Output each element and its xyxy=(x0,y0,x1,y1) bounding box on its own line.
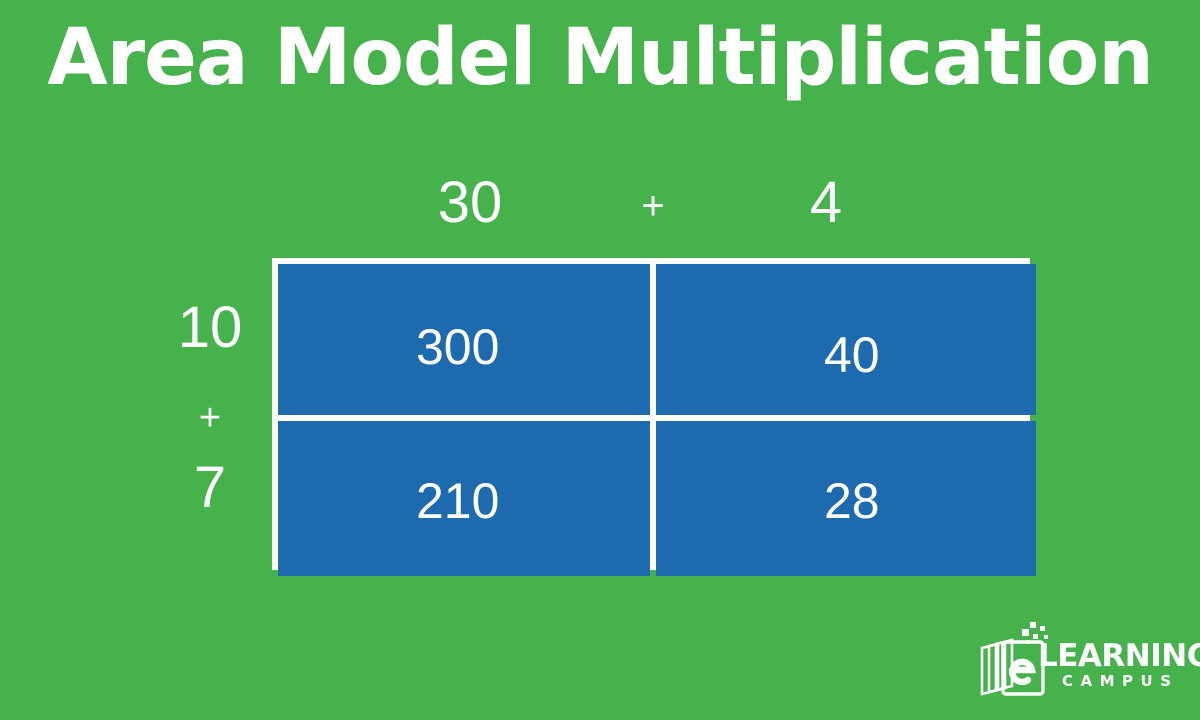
area-cell-top-right: 40 xyxy=(656,264,1036,415)
row-header-term-1: 10 xyxy=(140,299,280,357)
area-cell-value: 28 xyxy=(824,476,880,526)
logo-word-campus: CAMPUS xyxy=(1062,673,1190,690)
area-model-poster: Area Model Multiplication 30 + 4 10 + 7 … xyxy=(0,0,1200,720)
row-header-operator: + xyxy=(160,399,260,437)
area-cell-value: 40 xyxy=(824,330,880,380)
area-cell-top-left: 300 xyxy=(278,264,650,415)
area-cell-value: 300 xyxy=(416,322,499,372)
column-header-term-2: 4 xyxy=(746,174,906,232)
area-cell-bottom-right: 28 xyxy=(656,421,1036,576)
brand-logo: LEARNING CAMPUS xyxy=(978,620,1188,702)
row-header-term-2: 7 xyxy=(140,459,280,517)
column-header-operator: + xyxy=(603,186,703,226)
column-header-term-1: 30 xyxy=(390,174,550,232)
area-cell-bottom-left: 210 xyxy=(278,421,650,576)
area-cell-value: 210 xyxy=(416,476,499,526)
area-model-grid: 300 40 210 28 xyxy=(272,258,1030,570)
page-title: Area Model Multiplication xyxy=(0,18,1200,100)
logo-word-learning: LEARNING xyxy=(1038,642,1190,671)
logo-wordmark: LEARNING CAMPUS xyxy=(1038,642,1190,690)
